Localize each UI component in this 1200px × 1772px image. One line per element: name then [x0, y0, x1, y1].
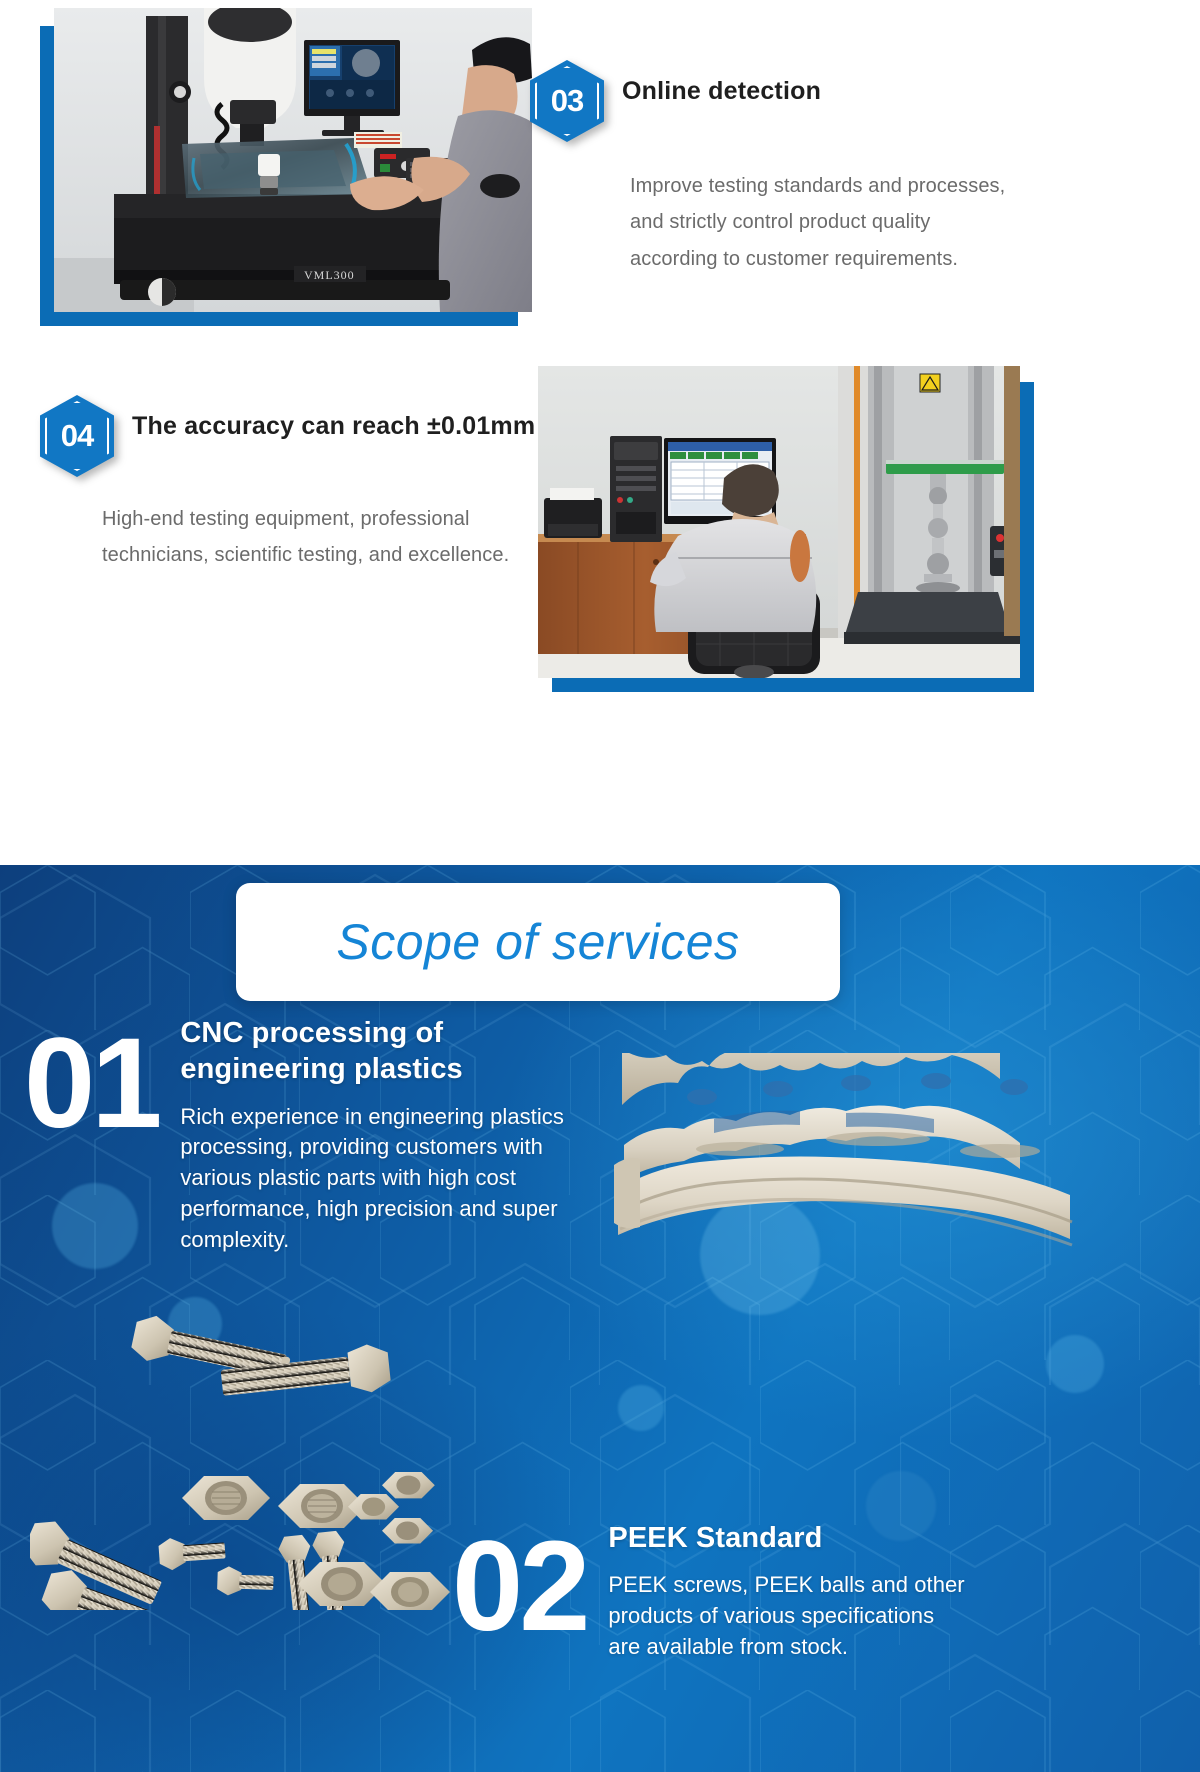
optical-measuring-machine-photo: VML300 — [54, 8, 532, 312]
badge-number: 04 — [40, 395, 114, 477]
peek-bolts-and-nuts-photo — [30, 1280, 460, 1610]
info-block-accuracy: 04 The accuracy can reach ±0.01mm High-e… — [40, 395, 540, 574]
detection-section: VML300 03 Online detection Improve testi… — [0, 0, 1200, 865]
frame-bar-bottom — [552, 678, 1034, 692]
service-body: PEEK screws, PEEK balls and other produc… — [608, 1570, 966, 1662]
service-text: CNC processing of engineering plastics R… — [158, 1015, 578, 1255]
service-title: CNC processing of engineering plastics — [180, 1015, 578, 1088]
block-body: Improve testing standards and processes,… — [530, 168, 1010, 277]
hexagon-badge-icon: 03 — [530, 60, 604, 142]
section-title: Scope of services — [336, 913, 739, 971]
svg-text:VML300: VML300 — [304, 268, 355, 282]
service-item-cnc-processing: 01 CNC processing of engineering plastic… — [24, 1015, 664, 1255]
service-number: 02 — [452, 1526, 586, 1649]
badge-number: 03 — [530, 60, 604, 142]
frame-bar-right — [1020, 382, 1034, 692]
frame-bar-left — [40, 26, 54, 326]
block-head: 04 The accuracy can reach ±0.01mm — [40, 395, 540, 477]
tensile-testing-machine-photo — [538, 366, 1020, 678]
info-block-online-detection: 03 Online detection Improve testing stan… — [530, 60, 1010, 277]
block-body: High-end testing equipment, professional… — [40, 501, 540, 574]
scope-of-services-section: Scope of services — [0, 865, 1200, 1772]
promotional-page: VML300 03 Online detection Improve testi… — [0, 0, 1200, 1772]
block-head: 03 Online detection — [530, 60, 1010, 142]
peek-machined-part-photo — [610, 1053, 1080, 1283]
tensile-testing-machine-frame — [538, 366, 1034, 692]
block-title: The accuracy can reach ±0.01mm — [132, 395, 535, 445]
hexagon-badge-icon: 04 — [40, 395, 114, 477]
service-title: PEEK Standard — [608, 1520, 966, 1556]
service-body: Rich experience in engineering plastics … — [180, 1102, 578, 1256]
service-item-peek-standard: 02 PEEK Standard PEEK screws, PEEK balls… — [452, 1520, 1172, 1663]
block-title: Online detection — [622, 60, 821, 110]
frame-bar-bottom — [40, 312, 518, 326]
service-text: PEEK Standard PEEK screws, PEEK balls an… — [586, 1520, 966, 1663]
section-title-card: Scope of services — [236, 883, 840, 1001]
optical-measuring-machine-frame: VML300 — [40, 8, 532, 326]
service-number: 01 — [24, 1023, 158, 1146]
